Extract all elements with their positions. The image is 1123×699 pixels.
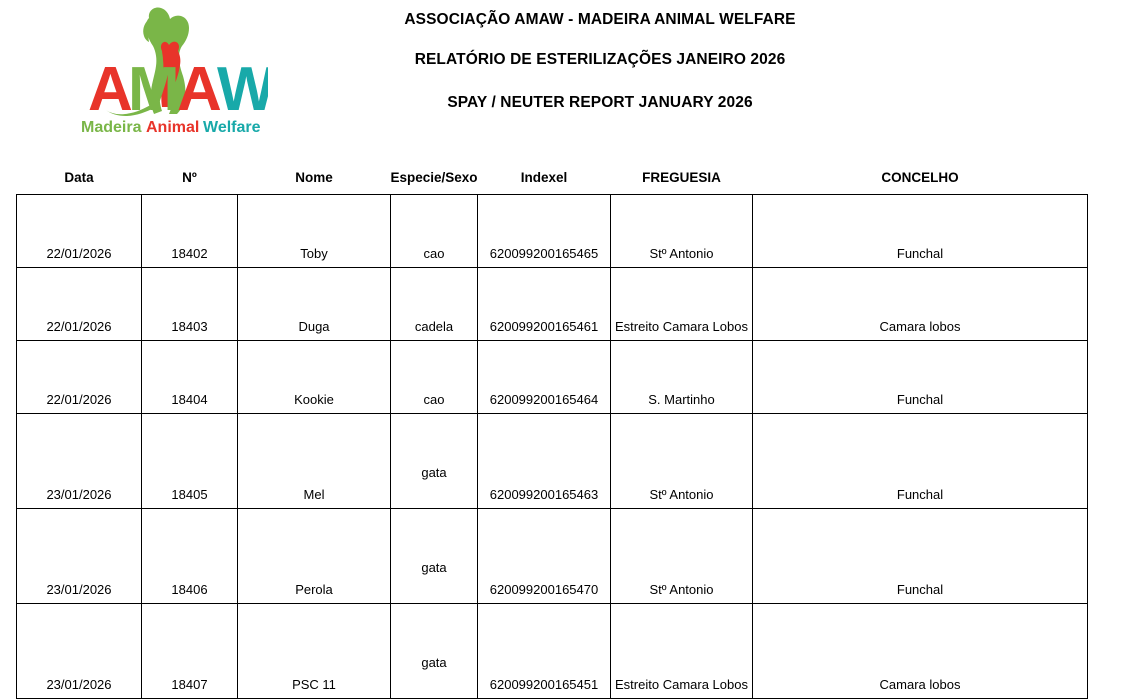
cell-numero: 18406: [142, 509, 238, 604]
document-title-report-en: SPAY / NEUTER REPORT JANUARY 2026: [290, 94, 910, 112]
cell-concelho: Funchal: [753, 414, 1088, 509]
column-header-concelho: CONCELHO: [753, 170, 1088, 195]
table-row: 23/01/202618407PSC 11gata620099200165451…: [17, 604, 1088, 699]
column-header-freguesia: FREGUESIA: [611, 170, 753, 195]
cell-indexel: 620099200165461: [478, 268, 611, 341]
cell-data: 23/01/2026: [17, 604, 142, 699]
document-title-report-pt: RELATÓRIO DE ESTERILIZAÇÕES JANEIRO 2026: [290, 51, 910, 69]
cell-indexel: 620099200165463: [478, 414, 611, 509]
logo-letter-m: M: [128, 55, 180, 124]
cell-freguesia: Stº Antonio: [611, 195, 753, 268]
cell-nome: Mel: [238, 414, 391, 509]
table-row: 22/01/202618404Kookiecao620099200165464S…: [17, 341, 1088, 414]
cell-indexel: 620099200165451: [478, 604, 611, 699]
cell-numero: 18405: [142, 414, 238, 509]
logo-letter-a2: A: [177, 55, 222, 124]
logo-tagline-welfare: Welfare: [203, 119, 261, 136]
column-header-data: Data: [17, 170, 142, 195]
cell-freguesia: Estreito Camara Lobos: [611, 268, 753, 341]
cell-nome: PSC 11: [238, 604, 391, 699]
cell-numero: 18407: [142, 604, 238, 699]
cell-concelho: Camara lobos: [753, 604, 1088, 699]
cell-indexel: 620099200165464: [478, 341, 611, 414]
cell-especie-sexo: cao: [391, 341, 478, 414]
cell-numero: 18402: [142, 195, 238, 268]
logo-tagline-madeira: Madeira: [81, 119, 142, 136]
table-body: 22/01/202618402Tobycao620099200165465Stº…: [17, 195, 1088, 699]
logo-letter-a1: A: [88, 55, 133, 124]
cell-concelho: Funchal: [753, 509, 1088, 604]
column-header-indexel: Indexel: [478, 170, 611, 195]
cell-especie-sexo: cao: [391, 195, 478, 268]
column-header-numero: Nº: [142, 170, 238, 195]
cell-nome: Kookie: [238, 341, 391, 414]
cell-data: 22/01/2026: [17, 195, 142, 268]
cell-data: 23/01/2026: [17, 414, 142, 509]
logo-tagline-animal: Animal: [146, 119, 199, 136]
logo-tagline: Madeira Animal Welfare: [81, 119, 261, 136]
table-header-row: Data Nº Nome Especie/Sexo Indexel FREGUE…: [17, 170, 1088, 195]
cell-especie-sexo: gata: [391, 604, 478, 699]
cell-concelho: Funchal: [753, 341, 1088, 414]
sterilization-report-table: Data Nº Nome Especie/Sexo Indexel FREGUE…: [16, 170, 1088, 699]
table-row: 23/01/202618405Melgata620099200165463Stº…: [17, 414, 1088, 509]
cell-indexel: 620099200165465: [478, 195, 611, 268]
cell-data: 22/01/2026: [17, 268, 142, 341]
cell-numero: 18404: [142, 341, 238, 414]
cell-nome: Perola: [238, 509, 391, 604]
sterilization-report-table-wrapper: Data Nº Nome Especie/Sexo Indexel FREGUE…: [0, 170, 1123, 699]
table-row: 22/01/202618403Dugacadela620099200165461…: [17, 268, 1088, 341]
cell-numero: 18403: [142, 268, 238, 341]
cell-especie-sexo: gata: [391, 414, 478, 509]
cell-freguesia: Estreito Camara Lobos: [611, 604, 753, 699]
cell-especie-sexo: gata: [391, 509, 478, 604]
cell-indexel: 620099200165470: [478, 509, 611, 604]
logo-wordmark: A M A W: [88, 55, 268, 124]
cell-data: 22/01/2026: [17, 341, 142, 414]
table-row: 22/01/202618402Tobycao620099200165465Stº…: [17, 195, 1088, 268]
cell-freguesia: S. Martinho: [611, 341, 753, 414]
table-row: 23/01/202618406Perolagata620099200165470…: [17, 509, 1088, 604]
cell-concelho: Funchal: [753, 195, 1088, 268]
cell-concelho: Camara lobos: [753, 268, 1088, 341]
cell-freguesia: Stº Antonio: [611, 509, 753, 604]
column-header-especie: Especie/Sexo: [391, 170, 478, 195]
cell-nome: Toby: [238, 195, 391, 268]
logo-letter-w: W: [217, 55, 268, 124]
cell-freguesia: Stº Antonio: [611, 414, 753, 509]
cell-data: 23/01/2026: [17, 509, 142, 604]
cell-nome: Duga: [238, 268, 391, 341]
column-header-nome: Nome: [238, 170, 391, 195]
document-title-association: ASSOCIAÇÃO AMAW - MADEIRA ANIMAL WELFARE: [290, 11, 910, 29]
cell-especie-sexo: cadela: [391, 268, 478, 341]
amaw-logo: A M A W Madeira Animal Welfare: [76, 4, 268, 140]
